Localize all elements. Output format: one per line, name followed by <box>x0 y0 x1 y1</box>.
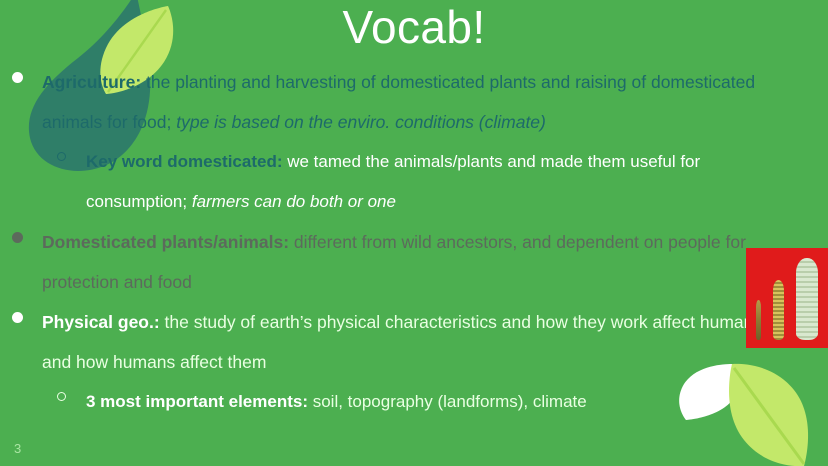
bullet-lead: Key word domesticated: <box>86 152 283 171</box>
bullet-item-agriculture: Agriculture: the planting and harvesting… <box>0 62 790 142</box>
bullet-tail: soil, topography (landforms), climate <box>308 392 587 411</box>
bullet-lead: Domesticated plants/animals: <box>42 232 289 252</box>
bullet-italic: type is based on the enviro. conditions … <box>176 112 546 132</box>
bullet-marker-disc <box>12 232 23 243</box>
page-number: 3 <box>14 441 21 456</box>
bullet-marker-circle <box>57 392 66 401</box>
bullet-marker-disc <box>12 312 23 323</box>
bullet-item-key-word-domesticated: Key word domesticated: we tamed the anim… <box>0 142 790 222</box>
bullet-list: Agriculture: the planting and harvesting… <box>0 62 790 422</box>
bullet-item-domesticated-plants-animals: Domesticated plants/animals: different f… <box>0 222 790 302</box>
bullet-item-three-elements: 3 most important elements: soil, topogra… <box>0 382 790 422</box>
bullet-lead: Physical geo.: <box>42 312 160 332</box>
bullet-lead: Agriculture: <box>42 72 141 92</box>
specimen-teosinte <box>756 300 761 340</box>
slide-canvas: Vocab! Agriculture: the planting and har… <box>0 0 828 466</box>
bullet-marker-circle <box>57 152 66 161</box>
bullet-item-physical-geo: Physical geo.: the study of earth’s phys… <box>0 302 790 382</box>
slide-title: Vocab! <box>0 2 828 54</box>
teosinte-to-maize-photo <box>746 248 828 348</box>
bullet-italic: farmers can do both or one <box>192 192 396 211</box>
bullet-lead: 3 most important elements: <box>86 392 308 411</box>
specimen-hybrid <box>773 280 784 340</box>
bullet-marker-disc <box>12 72 23 83</box>
specimen-maize <box>796 258 818 340</box>
